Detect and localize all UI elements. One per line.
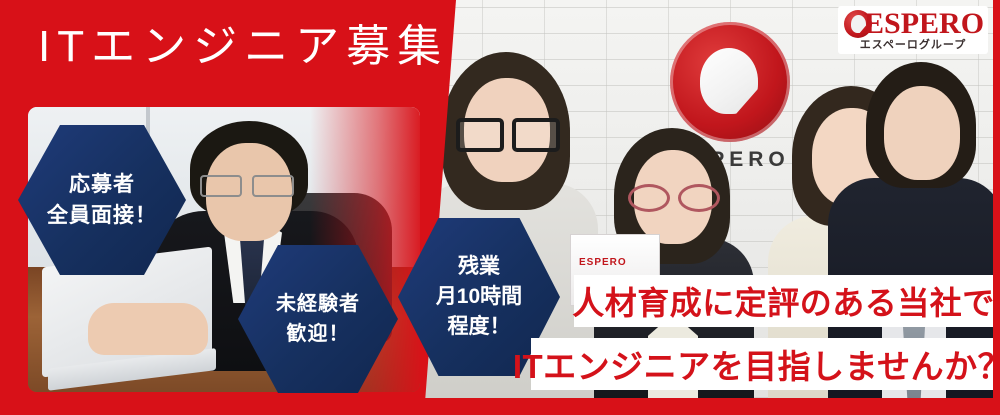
badge-2-line-1: 未経験者 [276, 289, 360, 319]
recruitment-banner: ESPERO ESPERO [0, 0, 1000, 415]
cta-line-one-text: 人材育成に定評のある当社で [572, 278, 995, 324]
badge-2-line-2: 歓迎！ [276, 319, 360, 349]
badge-3-line-1: 残業 [436, 252, 522, 282]
person-one-glasses [456, 118, 560, 144]
badge-3-line-2: 月10時間 [436, 282, 522, 312]
cta-line-two: ITエンジニアを目指しませんか？ [531, 338, 993, 390]
cta-line-two-text: ITエンジニアを目指しませんか？ [513, 340, 1000, 388]
badge-3-line-3: 程度！ [436, 312, 522, 342]
box-label: ESPERO [579, 257, 627, 268]
person-four-head [884, 86, 960, 180]
page-title: ITエンジニア募集 [38, 20, 448, 74]
cta-line-one: 人材育成に定評のある当社で [574, 275, 993, 327]
badge-1-line-2: 全員面接！ [47, 200, 157, 231]
badge-1-line-1: 応募者 [47, 169, 157, 200]
engineer-glasses [200, 175, 294, 193]
espero-logo: ESPERO エスペーログループ [838, 6, 988, 54]
person-two-glasses [628, 184, 720, 206]
espero-logo-row: ESPERO [844, 8, 988, 38]
engineer-hands [88, 303, 208, 355]
espero-wordmark: ESPERO [864, 7, 984, 41]
